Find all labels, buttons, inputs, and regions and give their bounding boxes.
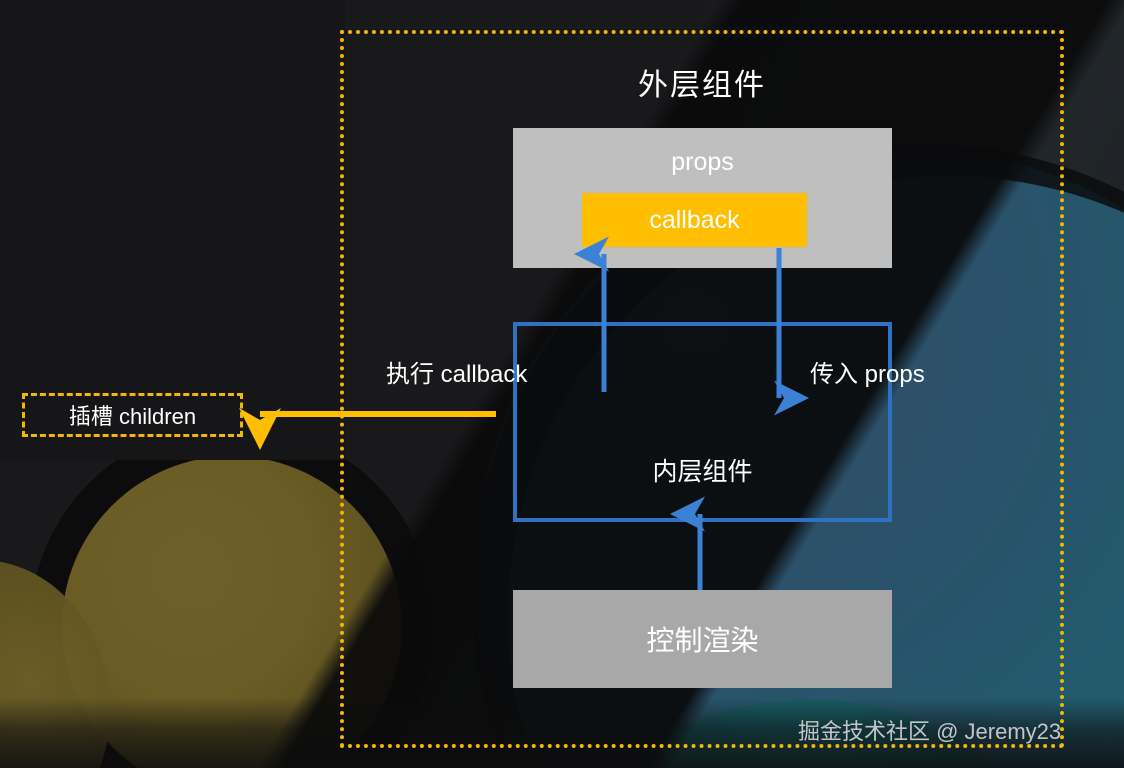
callback-chip[interactable]: callback [582, 193, 807, 247]
diagram-canvas: 外层组件 props callback 内层组件 控制渲染 插槽 childre… [0, 0, 1124, 768]
control-render-label: 控制渲染 [646, 619, 758, 659]
inner-component-box [513, 322, 892, 522]
callback-chip-label: callback [649, 206, 739, 235]
background-left-panel [0, 0, 345, 460]
outer-component-title: 外层组件 [340, 60, 1064, 104]
control-render-box: 控制渲染 [513, 590, 892, 688]
props-box-label: props [513, 148, 892, 177]
execute-callback-label: 执行 callback [386, 354, 527, 389]
props-box: props callback [513, 128, 892, 268]
slot-children-box: 插槽 children [22, 393, 243, 437]
inner-component-label: 内层组件 [513, 452, 892, 488]
pass-props-label: 传入 props [810, 354, 925, 389]
slot-children-label: 插槽 children [69, 399, 196, 431]
watermark-text: 掘金技术社区 @ Jeremy23 [798, 714, 1061, 746]
